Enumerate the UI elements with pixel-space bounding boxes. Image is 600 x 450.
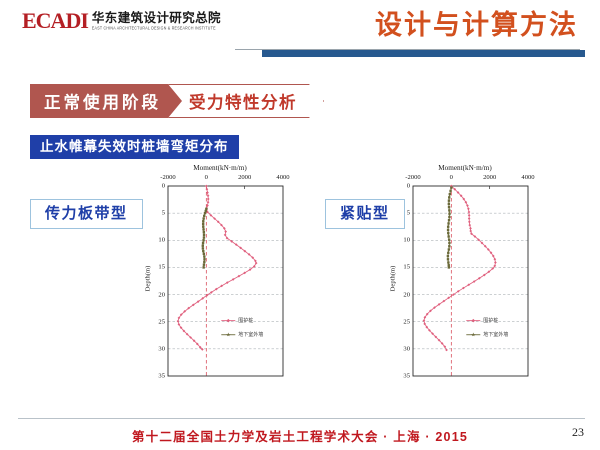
chart-label-left: 传力板带型 xyxy=(30,199,143,229)
chart-marker xyxy=(203,253,205,255)
breadcrumb-item-current[interactable]: 受力特性分析 xyxy=(168,84,324,118)
page-title: 设计与计算方法 xyxy=(375,8,578,42)
chart-marker xyxy=(448,219,450,221)
chart-marker xyxy=(207,194,210,197)
chart-marker xyxy=(447,232,449,234)
chart-marker xyxy=(205,185,208,188)
chart-marker xyxy=(448,212,450,214)
chart-marker xyxy=(203,261,205,263)
chart-plot-area xyxy=(140,160,300,400)
chart-series-1 xyxy=(177,185,258,351)
chart-marker xyxy=(450,186,452,188)
chart-marker xyxy=(466,204,469,207)
chart-right: Moment(kN·m/m)-2000020004000051015202530… xyxy=(385,160,545,400)
chart-marker xyxy=(202,250,204,252)
chart-marker xyxy=(447,229,449,231)
title-accent-bar xyxy=(262,50,585,57)
chart-marker xyxy=(493,258,496,261)
chart-legend-label: 围护桩 xyxy=(483,317,498,324)
chart-marker xyxy=(448,196,450,198)
chart-marker xyxy=(448,248,450,250)
chart-marker xyxy=(447,222,449,224)
chart-marker xyxy=(202,226,204,228)
chart-marker xyxy=(202,217,204,219)
chart-marker xyxy=(447,252,449,254)
chart-marker xyxy=(203,215,205,217)
chart-plot-border xyxy=(168,186,283,376)
chart-marker xyxy=(448,216,450,218)
chart-plot-border xyxy=(413,186,528,376)
chart-marker xyxy=(203,236,205,238)
chart-marker xyxy=(205,208,207,210)
chart-marker xyxy=(448,199,450,201)
chart-marker xyxy=(448,209,450,211)
chart-marker xyxy=(494,261,497,264)
chart-legend-label: 地下室外墙 xyxy=(238,331,263,338)
logo-chinese-name: 华东建筑设计研究总院 xyxy=(92,11,221,25)
section-subtitle: 止水帷幕失效时桩墙弯矩分布 xyxy=(30,135,239,159)
chart-marker xyxy=(177,320,180,323)
chart-plot-area xyxy=(385,160,545,400)
chart-series-1 xyxy=(423,185,497,352)
chart-marker xyxy=(449,193,451,195)
breadcrumb: 正常使用阶段 受力特性分析 xyxy=(30,84,324,118)
chart-marker xyxy=(447,226,449,228)
chart-marker xyxy=(202,247,204,249)
chart-marker xyxy=(468,217,471,220)
footer-conference-text: 第十二届全国土力学及岩土工程学术大会 · 上海 · 2015 xyxy=(0,426,600,445)
chart-marker xyxy=(202,245,204,247)
chart-marker xyxy=(203,264,205,266)
chart-marker xyxy=(202,266,204,268)
chart-legend-marker xyxy=(471,333,475,337)
chart-marker xyxy=(203,255,205,257)
chart-marker xyxy=(202,242,204,244)
chart-marker xyxy=(202,220,204,222)
breadcrumb-item-active[interactable]: 正常使用阶段 xyxy=(30,84,183,118)
chart-marker xyxy=(468,224,471,227)
chart-marker xyxy=(469,230,472,233)
chart-marker xyxy=(447,261,449,263)
chart-series-line xyxy=(424,186,496,350)
page-number: 23 xyxy=(572,425,584,440)
chart-marker xyxy=(447,258,449,260)
chart-marker xyxy=(203,258,205,260)
chart-marker xyxy=(447,255,449,257)
chart-marker xyxy=(448,264,450,266)
chart-marker xyxy=(468,220,471,223)
chart-marker xyxy=(202,228,204,230)
chart-marker xyxy=(203,231,205,233)
chart-left: Moment(kN·m/m)-2000020004000051015202530… xyxy=(140,160,300,400)
chart-marker xyxy=(468,214,471,217)
chart-marker xyxy=(448,206,450,208)
chart-legend-marker xyxy=(226,333,230,337)
chart-marker xyxy=(448,245,450,247)
chart-marker xyxy=(448,266,450,268)
logo-latin-text: ECADI xyxy=(22,10,88,32)
chart-marker xyxy=(469,227,472,230)
chart-marker xyxy=(203,234,205,236)
chart-marker xyxy=(207,201,210,204)
chart-marker xyxy=(448,239,450,241)
chart-marker xyxy=(205,210,207,212)
ecadi-logo: ECADI 华东建筑设计研究总院 EAST CHINA ARCHITECTURA… xyxy=(22,10,221,32)
chart-legend-label: 地下室外墙 xyxy=(483,331,508,338)
chart-marker xyxy=(448,203,450,205)
slide-root: ECADI 华东建筑设计研究总院 EAST CHINA ARCHITECTURA… xyxy=(0,0,600,450)
logo-chinese-block: 华东建筑设计研究总院 EAST CHINA ARCHITECTURAL DESI… xyxy=(92,11,221,31)
chart-marker xyxy=(224,230,227,233)
chart-marker xyxy=(467,207,470,210)
footer-rule xyxy=(18,418,585,419)
chart-marker xyxy=(207,198,210,201)
chart-marker xyxy=(202,239,204,241)
chart-marker xyxy=(202,223,204,225)
chart-marker xyxy=(448,242,450,244)
chart-marker xyxy=(204,212,206,214)
chart-legend-label: 围护桩 xyxy=(238,317,253,324)
chart-series-line xyxy=(178,186,256,349)
chart-marker xyxy=(447,235,449,237)
logo-english-name: EAST CHINA ARCHITECTURAL DESIGN & RESEAR… xyxy=(92,25,221,32)
chart-marker xyxy=(449,190,451,192)
